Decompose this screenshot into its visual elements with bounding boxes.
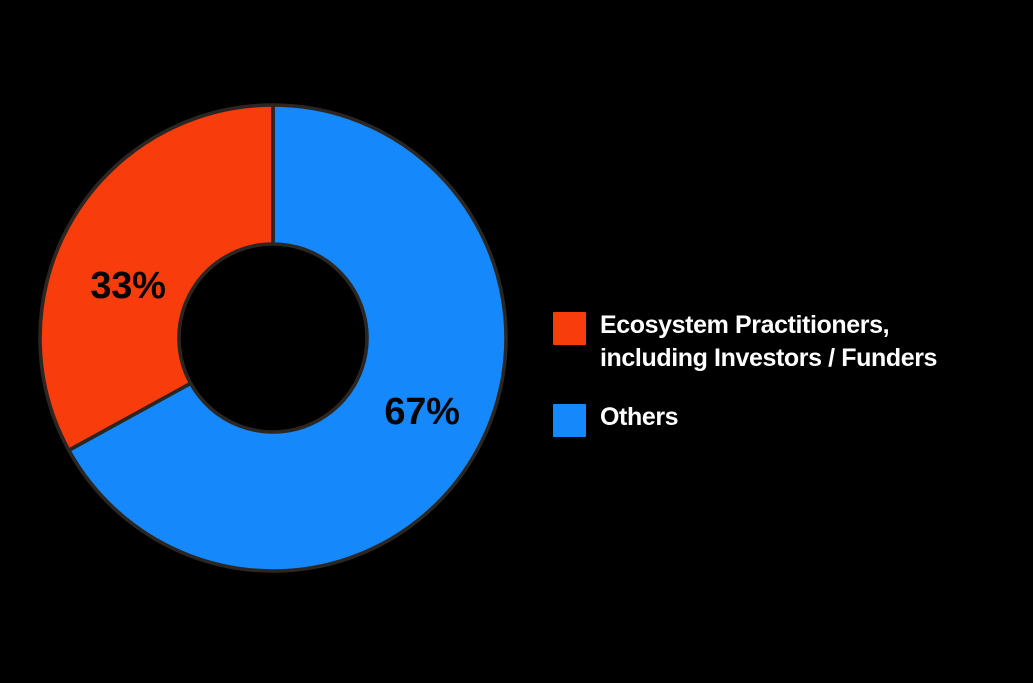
pie-slice-label-33-percent: 33% — [90, 265, 165, 307]
legend-swatch-others — [553, 404, 586, 437]
legend-label-ecosystem-practitioners: Ecosystem Practitioners, including Inves… — [600, 309, 937, 376]
legend-label-others: Others — [600, 401, 678, 434]
chart-legend: Ecosystem Practitioners, including Inves… — [553, 309, 1003, 437]
donut-chart-svg: 33% 67% — [0, 0, 560, 683]
donut-chart-figure: 33% 67% Ecosystem Practitioners, includi… — [0, 0, 1033, 683]
donut-chart-area: 33% 67% — [0, 0, 560, 683]
legend-item-others[interactable]: Others — [553, 401, 1003, 437]
pie-slice-label-67-percent: 67% — [384, 391, 459, 433]
legend-swatch-ecosystem-practitioners — [553, 312, 586, 345]
legend-item-ecosystem-practitioners[interactable]: Ecosystem Practitioners, including Inves… — [553, 309, 1003, 376]
